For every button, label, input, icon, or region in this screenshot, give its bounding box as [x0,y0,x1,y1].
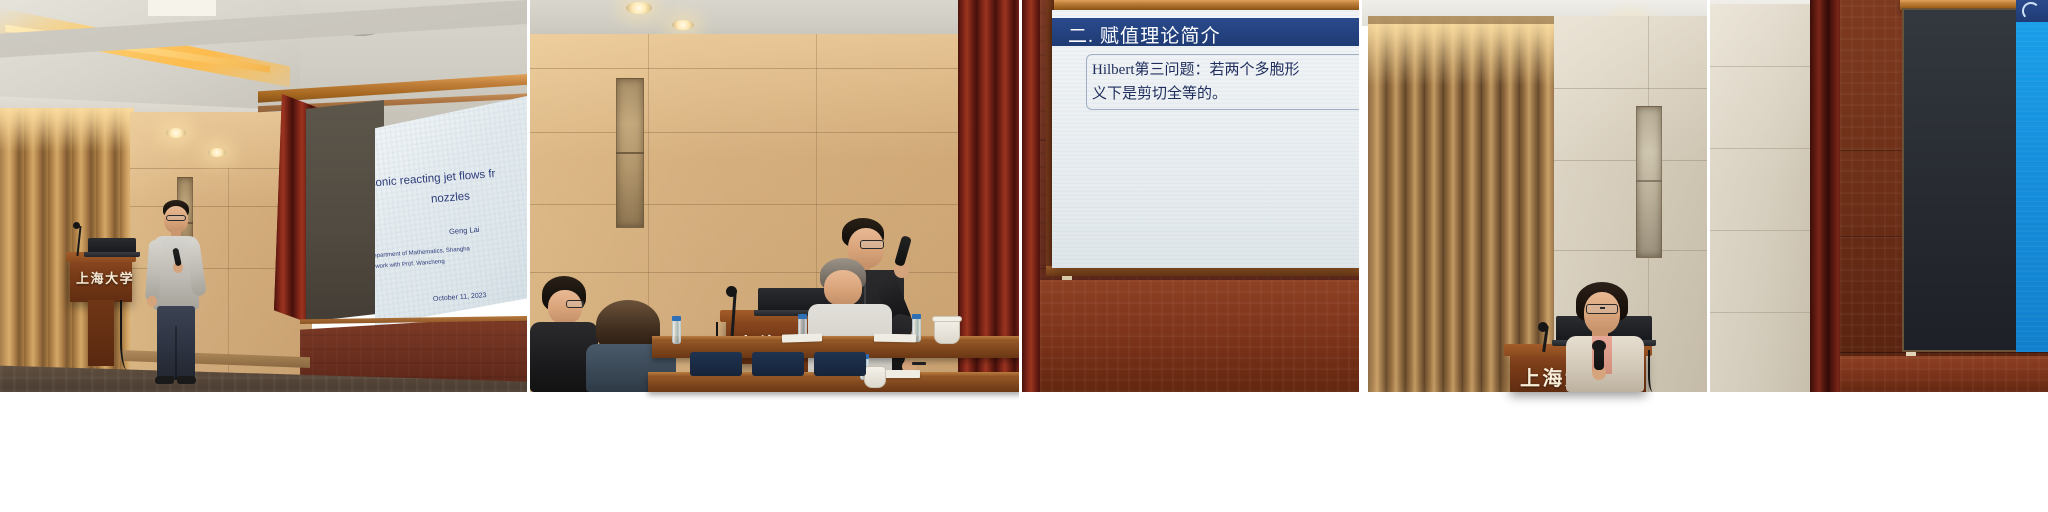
dark-acoustic-panel [306,100,384,322]
slide-title-line2: nozzles [431,191,471,206]
panel-2-male-speaker-at-podium: 上海大学 [527,0,1019,512]
speaker-glasses-icon [860,240,884,249]
table-edge [652,336,1019,341]
blue-screen-logo-arc-icon [2022,2,2040,20]
water-bottle [672,320,681,344]
ceiling-downlight-icon [208,148,226,157]
slide-body-line1: Hilbert第三问题：若两个多胞形 [1092,58,1300,79]
slide-body-line2: 义下是剪切全等的。 [1092,82,1227,103]
printed-paper [874,334,916,343]
lower-wainscot [1040,280,1359,392]
printed-paper [782,333,822,342]
red-curtain-right [958,0,1019,392]
wall-niche-divider [616,152,644,154]
speaker-left-hand [147,296,157,307]
bottle-cap [912,314,921,319]
audience-chair [690,352,742,376]
panel-3-chinese-math-slide: 二. 赋值理论简介 Hilbert第三问题：若两个多胞形 义下是剪切全等的。 [1019,0,1359,512]
tea-cup [864,366,886,388]
podium-column [88,300,114,366]
handheld-microphone-icon [894,235,912,267]
speaker-leg-split [175,326,177,380]
ceiling-light-panel [148,0,216,16]
wainscot-seam [1840,352,2048,353]
tile-seam [1710,66,1814,67]
slide-date: October 11, 2023 [433,292,487,303]
microphone-head-ball-icon [1592,340,1606,352]
speaker-shoe-left [155,376,174,384]
tile-seam [530,68,970,69]
slide-title-line1: Supersonic reacting jet flows fr [375,168,496,192]
laser-pointer-icon [912,362,926,365]
tile-seam [530,132,970,133]
speaker-female-at-podium [1558,282,1662,392]
blue-display-screen [2016,22,2048,352]
projection-screen: Supersonic reacting jet flows fr nozzles… [375,96,527,326]
podium-logo: 上海大学 [76,268,134,287]
podium-cable [120,300,138,370]
audience-hair [596,300,660,350]
audience-chair [814,352,866,376]
tile-seam [530,204,970,205]
podium-microphone-head-icon [1538,322,1548,332]
tile-seam [1554,160,1707,161]
bottle-cap [672,316,681,321]
curtain-top-glow [0,108,134,152]
bottle-cap [798,314,807,319]
tea-cup-lid [932,316,962,322]
wall-niche-divider [1636,180,1662,182]
slide-joint-work: Joint work with Prof. Wancheng [375,259,445,271]
ceiling-downlight-icon [166,128,186,138]
speaker-shoe-right [177,376,196,384]
tile-seam [1554,250,1707,251]
speaker-glasses-icon [166,215,186,221]
slide-affiliation: Department of Mathematics, Shangha [375,246,470,259]
curtain-rail-shadow [1368,16,1558,24]
laptop-base [84,252,140,257]
audience-head [824,270,862,306]
speaker-glasses-icon [1586,304,1618,314]
slide-header-text: 二. 赋值理论简介 [1068,21,1221,48]
dark-display-panel [1902,8,2018,352]
glasses-bridge [1600,307,1605,309]
panel-4-female-speaker-at-podium: 上海大学 [1359,0,1707,512]
slide-author: Geng Lai [449,225,480,236]
photo-collage: Supersonic reacting jet flows fr nozzles… [0,0,2048,512]
projection-screen: 二. 赋值理论简介 Hilbert第三问题：若两个多胞形 义下是剪切全等的。 [1052,10,1359,268]
podium-microphone-head-icon [726,286,737,297]
tile-seam [1710,312,1814,313]
audience-chair [752,352,804,376]
speaker-male-standing [143,200,209,392]
tile-seam [1554,88,1707,89]
panel-5-corner-with-blue-display [1707,0,2048,512]
podium-microphone-head-icon [73,222,80,229]
beige-tile-wall-left [1710,4,1814,392]
wall-niche [1636,106,1662,258]
lower-wainscot [1840,356,2048,392]
tile-seam [1710,230,1814,231]
curtain-top-glow [1368,16,1558,86]
ceiling-downlight-icon [672,20,694,30]
tile-seam [1710,148,1814,149]
panel-1-male-speaker-standing: Supersonic reacting jet flows fr nozzles… [0,0,527,512]
audience-glasses-icon [566,300,584,308]
ceiling-downlight-icon [626,2,652,14]
